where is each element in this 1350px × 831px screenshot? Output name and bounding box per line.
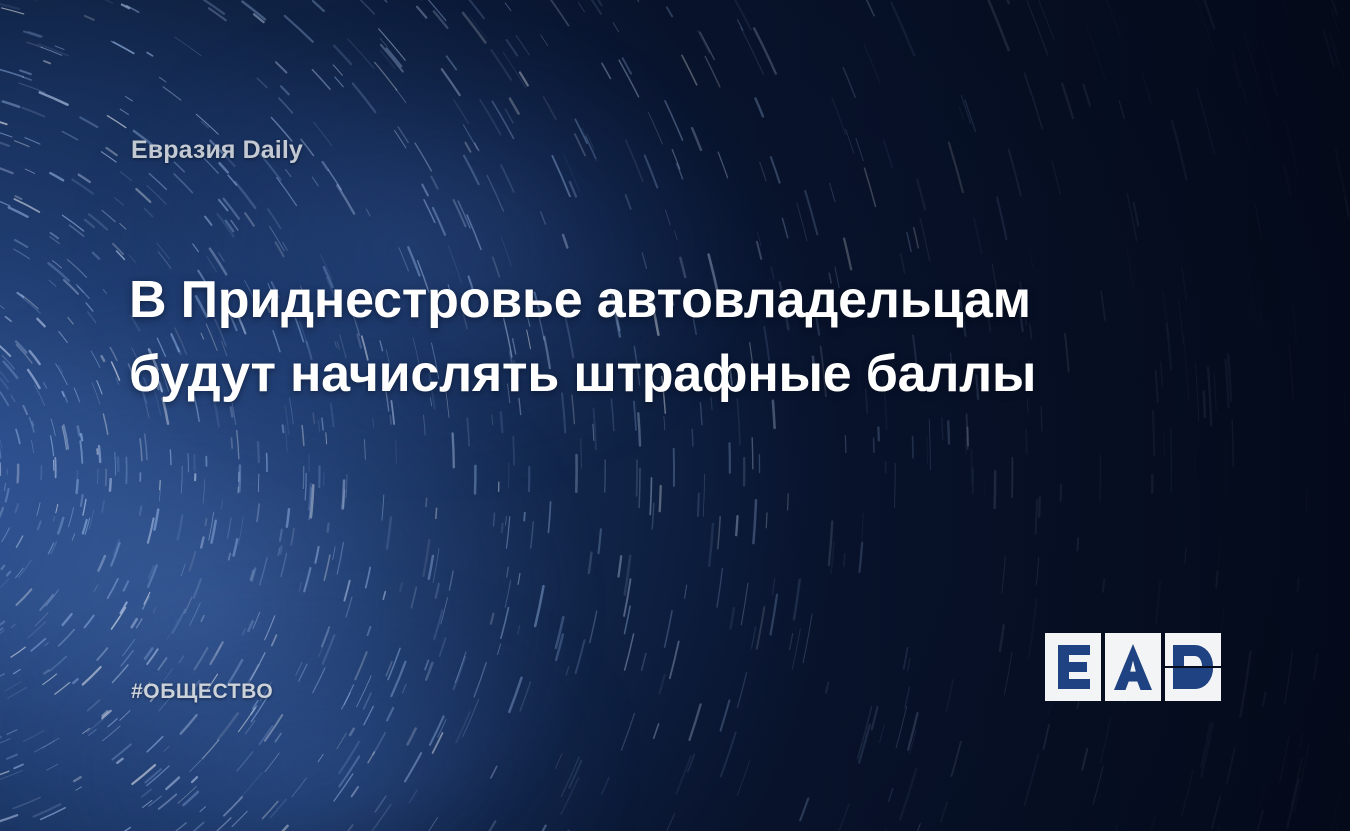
logo-tile-e	[1045, 633, 1101, 701]
category-tag[interactable]: #ОБЩЕСТВО	[131, 680, 273, 704]
logo-tile-d-upper	[1165, 633, 1221, 666]
logo-tile-d-lower	[1165, 668, 1221, 701]
logo-tile-a	[1105, 633, 1161, 701]
eadaily-logo[interactable]	[1045, 633, 1222, 701]
page-title: В Приднестровье автовладельцам будут нач…	[129, 263, 1089, 411]
logo-tile-d	[1165, 633, 1221, 701]
background-vignette	[0, 0, 1350, 831]
news-card: Евразия Daily В Приднестровье автовладел…	[0, 0, 1350, 831]
headline-line-2: будут начислять штрафные баллы	[129, 337, 1089, 411]
headline-line-1: В Приднестровье автовладельцам	[129, 263, 1089, 337]
brand-name: Евразия Daily	[131, 136, 303, 165]
